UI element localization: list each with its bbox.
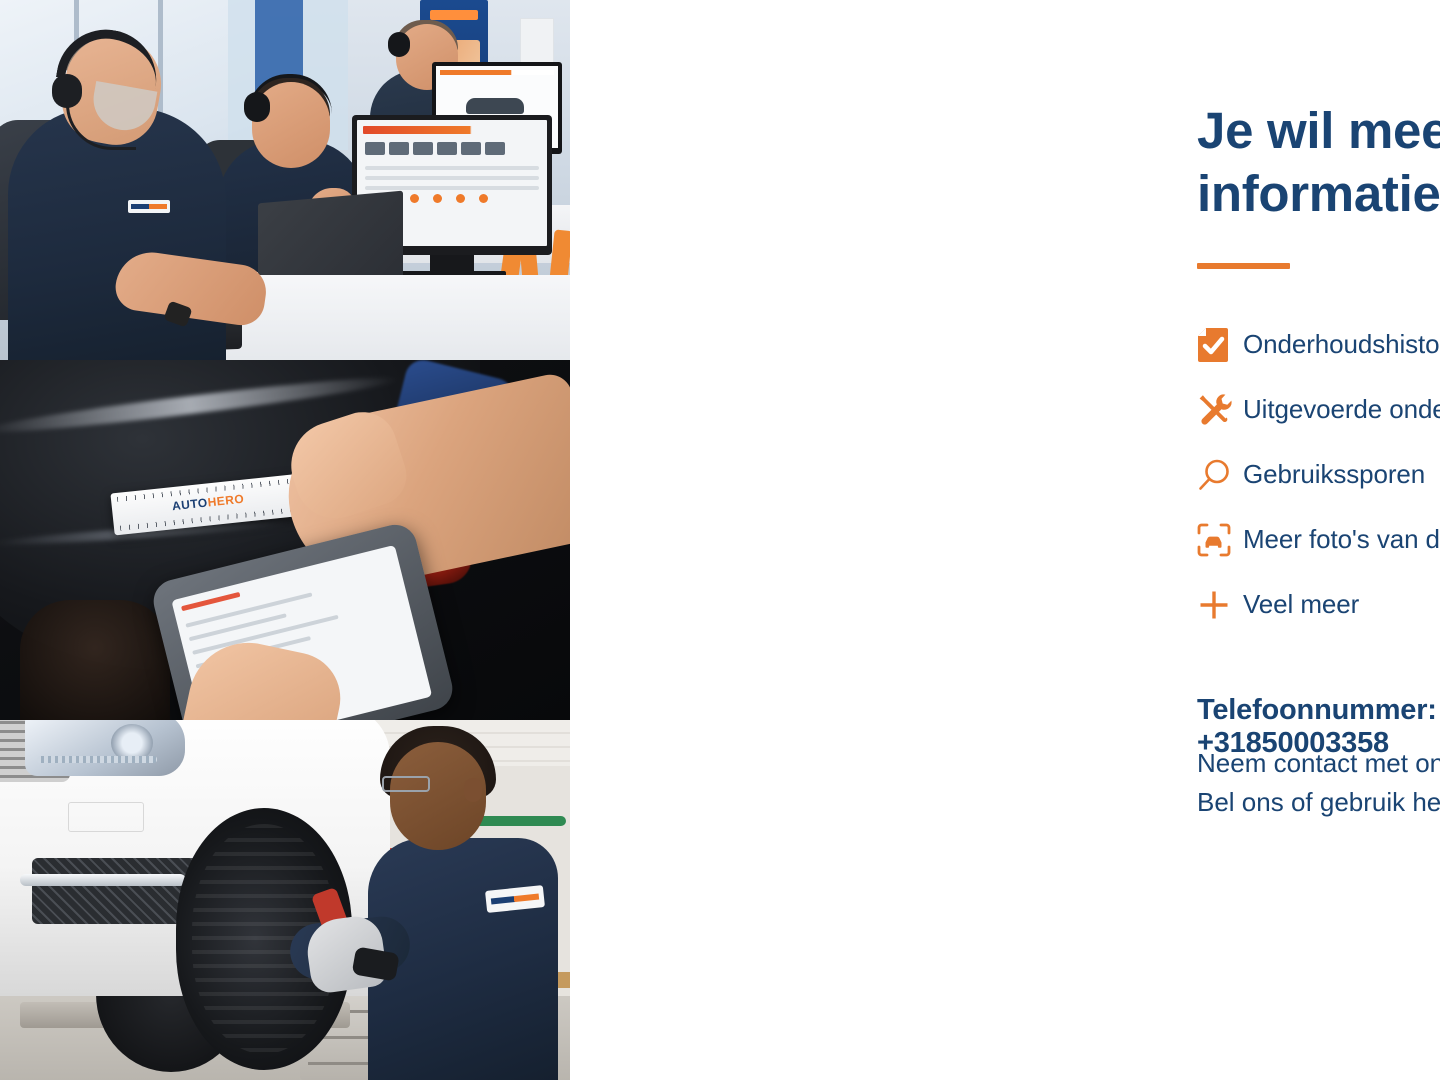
page-title-line-1: Je wil meer — [1197, 100, 1440, 163]
car-scan-frame-icon — [1197, 523, 1243, 557]
cta-line-1: Neem contact met ons op voor meer inform… — [1197, 744, 1440, 783]
promo-banner: AUTOHERO — [0, 0, 1440, 1080]
background-reflection — [20, 600, 170, 720]
call-center-agents-photo — [0, 0, 570, 360]
plus-icon — [1197, 588, 1243, 622]
workshop-wheel-photo — [0, 720, 570, 1080]
page-title: Je wil meer informatie over: — [1197, 100, 1440, 225]
agent-foreground — [8, 108, 226, 360]
feature-label: Gebruikssporen — [1243, 459, 1425, 490]
feature-item-gebruikssporen: Gebruikssporen — [1197, 442, 1440, 507]
photo-column: AUTOHERO — [0, 0, 570, 1080]
feature-list: Onderhoudshistorie Uitgevoerde onderhoud… — [1197, 312, 1440, 637]
page-title-line-2: informatie over: — [1197, 163, 1440, 226]
feature-label: Veel meer — [1243, 589, 1359, 620]
cta-line-2: Bel ons of gebruik het contactformulier. — [1197, 783, 1440, 822]
content-panel: Je wil meer informatie over: Onderhoudsh… — [570, 0, 1440, 1080]
feature-label: Meer foto's van de auto — [1243, 524, 1440, 555]
feature-item-onderhoudshistorie: Onderhoudshistorie — [1197, 312, 1440, 377]
green-hose — [470, 816, 566, 826]
document-check-icon — [1197, 327, 1243, 363]
feature-item-meer-fotos: Meer foto's van de auto — [1197, 507, 1440, 572]
feature-item-onderhoudswerkzaamheden: Uitgevoerde onderhoudswerkzaamheden — [1197, 377, 1440, 442]
contact-cta-text: Neem contact met ons op voor meer inform… — [1197, 744, 1440, 822]
tools-wrench-screwdriver-icon — [1197, 392, 1243, 428]
feature-label: Uitgevoerde onderhoudswerkzaamheden — [1243, 394, 1440, 425]
feature-item-veel-meer: Veel meer — [1197, 572, 1440, 637]
feature-label: Onderhoudshistorie — [1243, 329, 1440, 360]
magnifier-icon — [1197, 458, 1243, 492]
car-inspection-photo: AUTOHERO — [0, 360, 570, 720]
title-divider — [1197, 263, 1290, 269]
